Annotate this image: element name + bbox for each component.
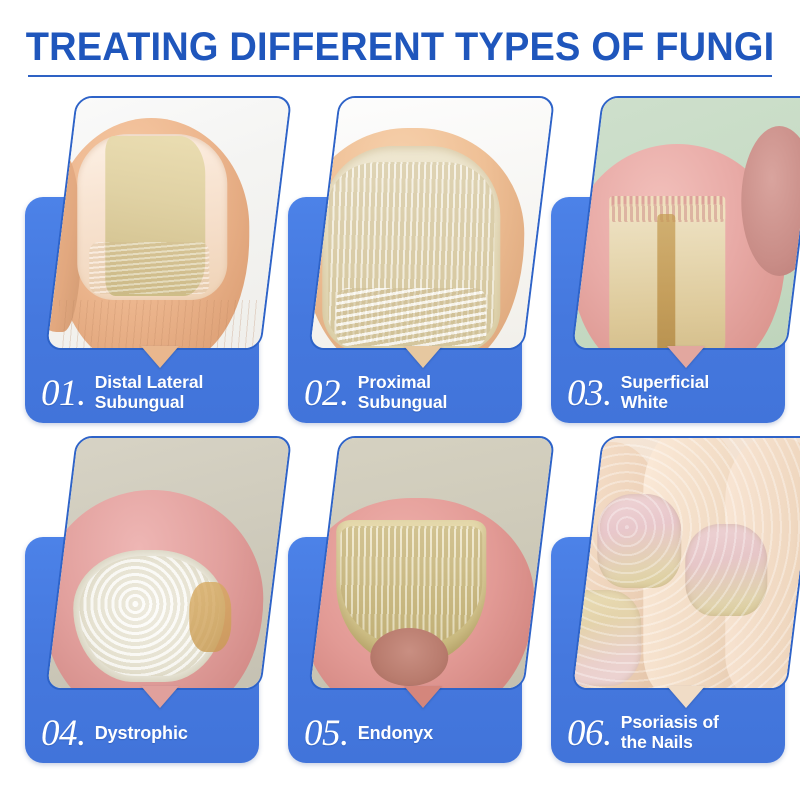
card-photo-inner: [45, 96, 291, 350]
fungi-card-04[interactable]: 04. Dystrophic: [25, 436, 261, 766]
card-photo-inner: [308, 436, 554, 690]
card-title: Superficial White: [621, 373, 709, 412]
card-title: Dystrophic: [95, 723, 188, 743]
card-photo-plate-wrap: [45, 96, 261, 358]
card-label: 06. Psoriasis of the Nails: [551, 704, 785, 762]
card-title-line1: Superficial: [621, 372, 709, 392]
card-title-line2: the Nails: [621, 732, 693, 752]
card-label: 01. Distal Lateral Subungual: [25, 364, 259, 422]
card-label: 05. Endonyx: [288, 704, 522, 762]
card-photo-plate-wrap: [308, 96, 524, 358]
card-photo-plate: [571, 96, 800, 350]
fungi-type-grid: 01. Distal Lateral Subungual: [0, 96, 800, 796]
card-number: 06.: [567, 715, 612, 752]
card-photo-plate: [308, 96, 555, 350]
card-title-line1: Distal Lateral: [95, 372, 204, 392]
toenail-superficial-white-photo: [571, 96, 800, 350]
toenail-distal-lateral-subungual-photo: [45, 96, 291, 350]
onycholysis-gap: [370, 628, 448, 686]
fungi-card-05[interactable]: 05. Endonyx: [288, 436, 524, 766]
card-title-line2: White: [621, 392, 668, 412]
card-photo-plate-wrap: [45, 436, 261, 698]
card-number: 02.: [304, 375, 349, 412]
nail-pitting-texture: [571, 436, 800, 690]
card-photo-plate-wrap: [571, 436, 787, 698]
card-photo-plate: [308, 436, 555, 690]
card-title-line1: Proximal: [358, 372, 431, 392]
card-title-line2: Subungual: [358, 392, 448, 412]
nail-ridging-texture: [89, 242, 209, 294]
fingernail-psoriasis-photo: [571, 436, 800, 690]
card-title-line2: Subungual: [95, 392, 185, 412]
infographic-page: TREATING DIFFERENT TYPES OF FUNGI: [0, 0, 800, 800]
subungual-debris-texture: [336, 288, 486, 346]
card-photo-plate: [571, 436, 800, 690]
card-photo-inner: [571, 436, 800, 690]
title-underline-rule: [28, 75, 772, 77]
toenail-proximal-subungual-photo: [308, 96, 554, 350]
card-label: 02. Proximal Subungual: [288, 364, 522, 422]
fungi-card-02[interactable]: 02. Proximal Subungual: [288, 96, 524, 426]
card-title: Endonyx: [358, 723, 433, 743]
page-title-text: TREATING DIFFERENT TYPES OF FUNGI: [26, 26, 775, 68]
page-title: TREATING DIFFERENT TYPES OF FUNGI: [0, 26, 800, 77]
card-photo-inner: [45, 436, 291, 690]
card-title-line1: Psoriasis of: [621, 712, 719, 732]
card-number: 01.: [41, 375, 86, 412]
card-photo-plate: [45, 96, 292, 350]
card-title: Proximal Subungual: [358, 373, 448, 412]
toenail-endonyx-photo: [308, 436, 554, 690]
card-photo-plate-wrap: [571, 96, 787, 358]
card-title: Distal Lateral Subungual: [95, 373, 204, 412]
fungi-card-01[interactable]: 01. Distal Lateral Subungual: [25, 96, 261, 426]
longitudinal-streak: [657, 214, 675, 350]
card-label: 04. Dystrophic: [25, 704, 259, 762]
fungi-card-03[interactable]: 03. Superficial White: [551, 96, 787, 426]
card-title: Psoriasis of the Nails: [621, 713, 719, 752]
card-number: 03.: [567, 375, 612, 412]
skin-fold-texture: [59, 300, 259, 350]
card-number: 05.: [304, 715, 349, 752]
card-number: 04.: [41, 715, 86, 752]
toenail-dystrophic-photo: [45, 436, 291, 690]
discoloration-patch: [189, 582, 231, 652]
card-photo-plate: [45, 436, 292, 690]
card-photo-inner: [571, 96, 800, 350]
card-photo-inner: [308, 96, 554, 350]
fungi-card-06[interactable]: 06. Psoriasis of the Nails: [551, 436, 787, 766]
card-photo-plate-wrap: [308, 436, 524, 698]
card-label: 03. Superficial White: [551, 364, 785, 422]
